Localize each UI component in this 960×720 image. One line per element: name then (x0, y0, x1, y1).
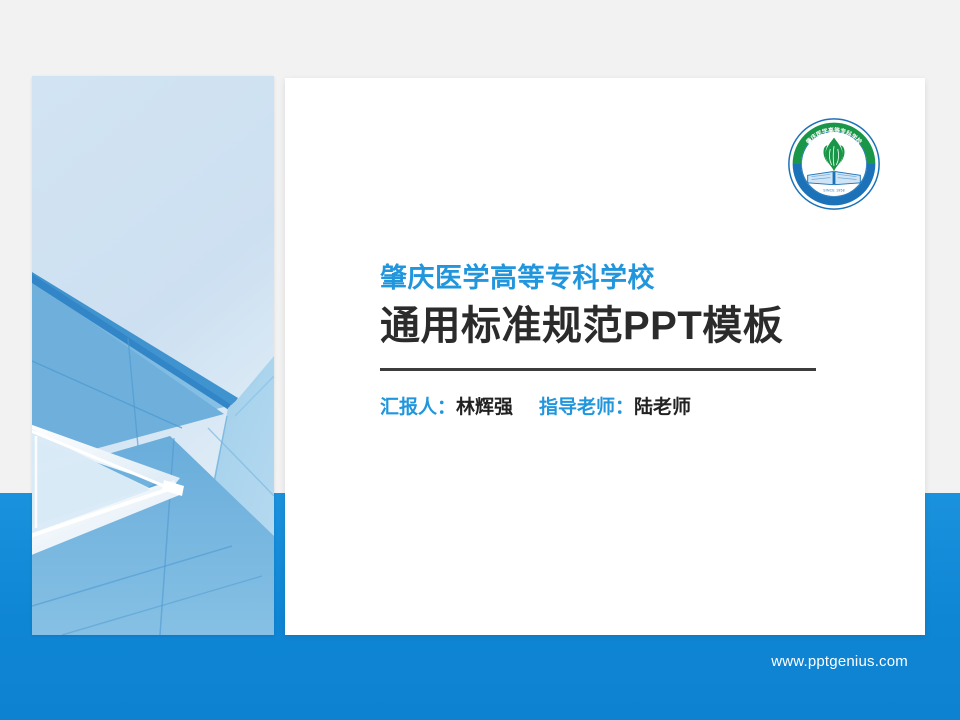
presenter-name: 林辉强 (456, 397, 513, 418)
title-block: 肇庆医学高等专科学校 通用标准规范PPT模板 汇报人：林辉强指导老师：陆老师 (380, 263, 816, 420)
advisor-name: 陆老师 (634, 397, 691, 418)
college-logo: 肇庆医学高等专科学校 ZHAOQING MEDICAL COLLEGE (787, 117, 881, 211)
college-emblem-icon: 肇庆医学高等专科学校 ZHAOQING MEDICAL COLLEGE (787, 117, 881, 211)
byline: 汇报人：林辉强指导老师：陆老师 (380, 397, 816, 420)
site-url-text: www.pptgenius.com (771, 653, 908, 670)
title-divider (380, 368, 816, 371)
presenter-label: 汇报人： (380, 397, 456, 418)
content-card: 肇庆医学高等专科学校 ZHAOQING MEDICAL COLLEGE (285, 78, 925, 635)
advisor-label: 指导老师： (539, 397, 634, 418)
svg-text:SINCE 1958: SINCE 1958 (823, 189, 845, 193)
school-name: 肇庆医学高等专科学校 (380, 263, 816, 295)
decorative-photo-panel (32, 76, 274, 635)
page-title: 通用标准规范PPT模板 (380, 303, 816, 349)
presentation-slide: www.pptgenius.com (0, 0, 960, 720)
architecture-photo-illustration (32, 76, 274, 635)
